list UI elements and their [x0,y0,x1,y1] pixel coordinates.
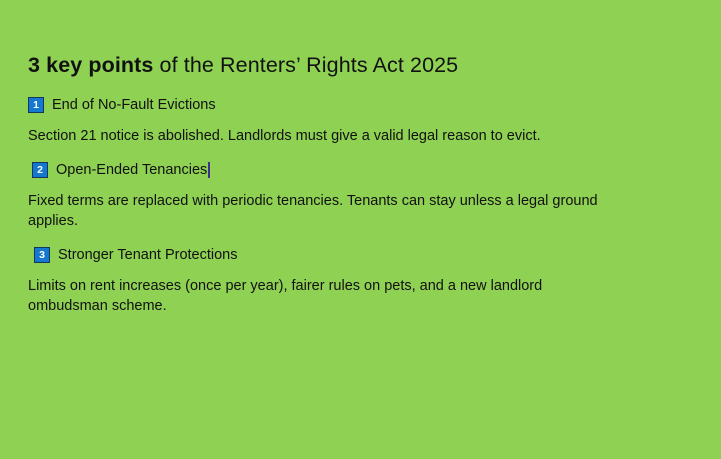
key-point-1-body[interactable]: Section 21 notice is abolished. Landlord… [28,126,608,146]
page-title-bold: 3 key points [28,53,153,77]
key-point-2: 2 Open-Ended Tenancies Fixed terms are r… [28,160,668,231]
number-badge-3-icon: 3 [34,247,50,263]
document-content: 3 key points of the Renters’ Rights Act … [28,52,668,316]
key-point-3-header[interactable]: 3 Stronger Tenant Protections [34,245,668,265]
key-point-1-heading[interactable]: End of No-Fault Evictions [52,96,216,115]
key-point-3-heading[interactable]: Stronger Tenant Protections [58,246,237,265]
key-point-2-body[interactable]: Fixed terms are replaced with periodic t… [28,191,608,231]
key-point-3: 3 Stronger Tenant Protections Limits on … [28,245,668,316]
key-point-3-body[interactable]: Limits on rent increases (once per year)… [28,276,608,316]
key-point-1: 1 End of No-Fault Evictions Section 21 n… [28,95,668,146]
page-title: 3 key points of the Renters’ Rights Act … [28,52,668,78]
key-point-2-heading[interactable]: Open-Ended Tenancies [56,161,207,180]
key-point-1-header[interactable]: 1 End of No-Fault Evictions [28,95,668,115]
key-point-2-header[interactable]: 2 Open-Ended Tenancies [32,160,668,180]
page-title-rest: of the Renters’ Rights Act 2025 [153,53,458,77]
document-canvas: 3 key points of the Renters’ Rights Act … [0,0,721,459]
number-badge-1-icon: 1 [28,97,44,113]
text-cursor-caret [208,162,210,178]
number-badge-2-icon: 2 [32,162,48,178]
